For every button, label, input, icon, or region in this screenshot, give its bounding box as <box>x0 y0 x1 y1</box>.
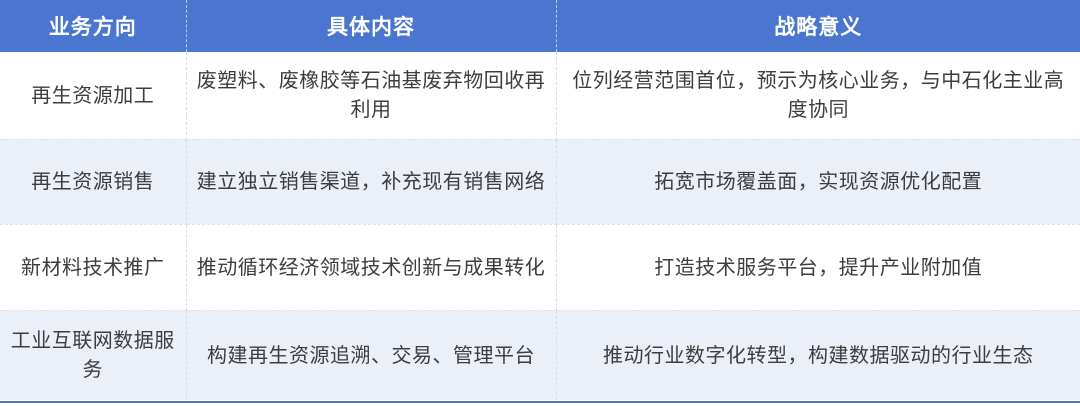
business-strategy-table-container: 业务方向 具体内容 战略意义 再生资源加工 废塑料、废橡胶等石油基废弃物回收再利… <box>0 0 1080 406</box>
column-header-business-direction: 业务方向 <box>0 0 186 52</box>
table-header: 业务方向 具体内容 战略意义 <box>0 0 1080 52</box>
table-header-row: 业务方向 具体内容 战略意义 <box>0 0 1080 52</box>
cell-strategic-significance: 位列经营范围首位，预示为核心业务，与中石化主业高度协同 <box>556 52 1080 139</box>
cell-specific-content: 废塑料、废橡胶等石油基废弃物回收再利用 <box>186 52 556 139</box>
table-row: 再生资源加工 废塑料、废橡胶等石油基废弃物回收再利用 位列经营范围首位，预示为核… <box>0 52 1080 139</box>
cell-specific-content: 构建再生资源追溯、交易、管理平台 <box>186 310 556 400</box>
table-row: 工业互联网数据服务 构建再生资源追溯、交易、管理平台 推动行业数字化转型，构建数… <box>0 310 1080 400</box>
table-body: 再生资源加工 废塑料、废橡胶等石油基废弃物回收再利用 位列经营范围首位，预示为核… <box>0 52 1080 400</box>
cell-business-direction: 再生资源加工 <box>0 52 186 139</box>
cell-specific-content: 建立独立销售渠道，补充现有销售网络 <box>186 139 556 224</box>
column-header-specific-content: 具体内容 <box>186 0 556 52</box>
cell-strategic-significance: 拓宽市场覆盖面，实现资源优化配置 <box>556 139 1080 224</box>
cell-business-direction: 工业互联网数据服务 <box>0 310 186 400</box>
column-header-strategic-significance: 战略意义 <box>556 0 1080 52</box>
cell-business-direction: 再生资源销售 <box>0 139 186 224</box>
table-bottom-accent-rule <box>0 401 1080 403</box>
cell-specific-content: 推动循环经济领域技术创新与成果转化 <box>186 224 556 310</box>
table-row: 再生资源销售 建立独立销售渠道，补充现有销售网络 拓宽市场覆盖面，实现资源优化配… <box>0 139 1080 224</box>
cell-business-direction: 新材料技术推广 <box>0 224 186 310</box>
cell-strategic-significance: 打造技术服务平台，提升产业附加值 <box>556 224 1080 310</box>
cell-strategic-significance: 推动行业数字化转型，构建数据驱动的行业生态 <box>556 310 1080 400</box>
table-row: 新材料技术推广 推动循环经济领域技术创新与成果转化 打造技术服务平台，提升产业附… <box>0 224 1080 310</box>
business-strategy-table: 业务方向 具体内容 战略意义 再生资源加工 废塑料、废橡胶等石油基废弃物回收再利… <box>0 0 1080 400</box>
